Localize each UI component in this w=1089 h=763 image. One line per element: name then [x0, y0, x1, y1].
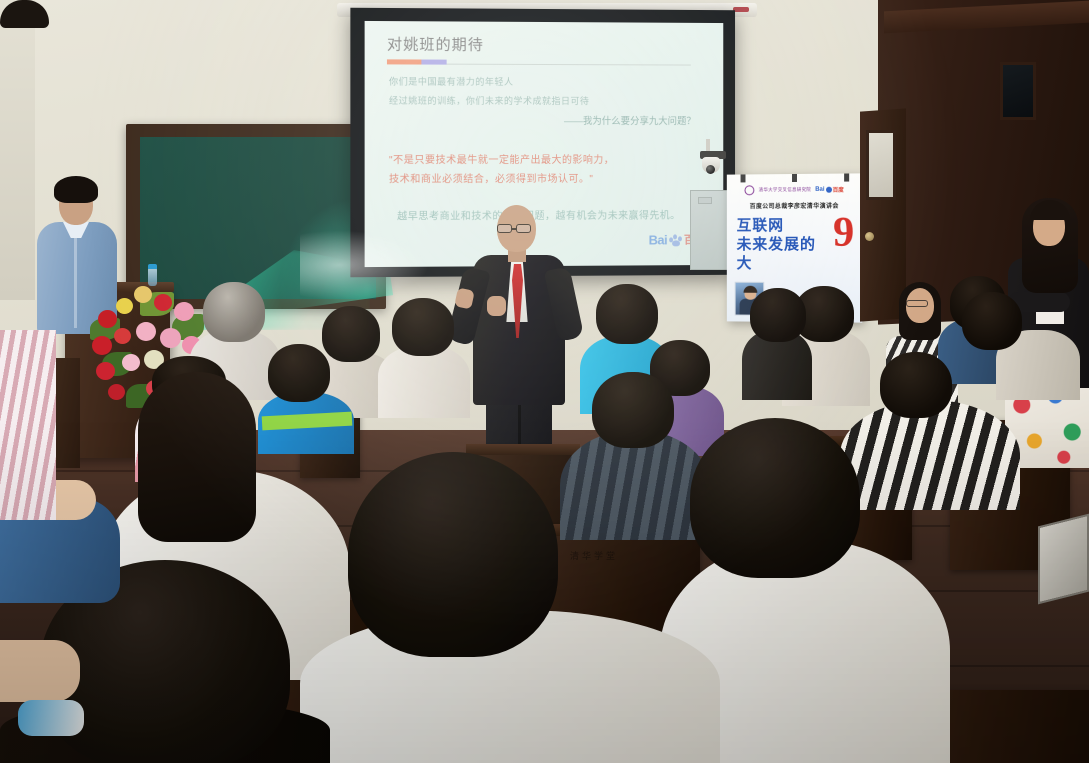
slide-quote-line-1: "不是只要技术最牛就一定能产出最大的影响力， [389, 151, 706, 166]
eyeglasses-icon [906, 300, 928, 307]
speaker-hair [0, 0, 49, 28]
door-side-glass [866, 130, 896, 200]
audience-head [596, 284, 658, 344]
speaker-glasses-bridge [512, 228, 517, 230]
slide-closing-line: 越早思考商业和技术的关系问题，越有机会为未来赢得先机。 [397, 206, 705, 222]
speaker-right-hand [487, 296, 506, 316]
audience-head [880, 352, 952, 418]
baidu-logo-latin: Bai [649, 232, 668, 247]
audience-head [750, 288, 806, 342]
accent-bar-orange [387, 59, 421, 64]
host-shirt-placket [74, 232, 77, 328]
slide-quote-line-2: 技术和商业必须结合，必须得到市场认可。" [389, 170, 706, 186]
audience-head [690, 418, 860, 578]
left-edge-attendee [0, 330, 56, 520]
banner-baidu-latin: Bai [815, 186, 824, 192]
roller-end-cap [733, 7, 749, 12]
banner-baidu-chinese: 百度 [833, 185, 844, 193]
water-bottle-cap [148, 264, 157, 269]
speaker [0, 0, 49, 28]
speaker-glasses-right-lens [516, 224, 531, 233]
slide-divider [387, 59, 690, 65]
audience-head [203, 282, 265, 342]
banner-clip-mid [792, 173, 797, 182]
presentation-slide: 对姚班的期待 你们是中国最有潜力的年轻人 经过姚班的训练，你们未来的学术成就指日… [365, 21, 724, 267]
audience-head [268, 344, 330, 402]
panel-label [698, 197, 712, 204]
door-handle-icon [865, 232, 874, 241]
projection-screen: 对姚班的期待 你们是中国最有潜力的年轻人 经过姚班的训练，你们未来的学术成就指日… [350, 8, 735, 278]
camera-lens [706, 165, 715, 174]
paw-icon [669, 233, 682, 246]
foreground-head-center [348, 452, 558, 657]
laptop-screen [1038, 514, 1089, 605]
banner-logo-row: 清华大学交叉信息研究院 Bai 百度 [727, 183, 862, 195]
long-hair [138, 372, 256, 542]
host-hair [54, 176, 98, 203]
audience-head [392, 298, 454, 356]
audience-head [592, 372, 674, 448]
slide-bullet-2: 经过姚班的训练，你们未来的学术成就指日可待 [389, 94, 706, 108]
banner-clip-right [844, 173, 849, 181]
sneaker [18, 700, 84, 736]
slide-attribution: ——我为什么要分享九大问题？ [383, 113, 696, 127]
audience-shoulders [378, 346, 470, 418]
banner-clip-left [741, 173, 746, 182]
chair-top-rail [466, 444, 580, 455]
banner-big-number: 9 [833, 212, 854, 254]
banner-baidu-logo: Bai 百度 [815, 185, 844, 193]
accent-bar-purple [421, 60, 446, 65]
lecture-hall-photo: 对姚班的期待 你们是中国最有潜力的年轻人 经过姚班的训练，你们未来的学术成就指日… [0, 0, 1089, 763]
slide-title: 对姚班的期待 [387, 33, 706, 56]
speaker-glasses-left-lens [497, 224, 512, 233]
slide-bullet-1: 你们是中国最有潜力的年轻人 [389, 74, 706, 88]
door-glass-pane [1000, 62, 1036, 120]
banner-headline: 互联网 未来发展的 大 9 [727, 216, 862, 279]
banner-headline-line-3: 大 [737, 254, 863, 273]
banner-org-line: 清华大学交叉信息研究院 [759, 186, 811, 192]
attendee-leg [0, 640, 80, 702]
chair-carving-text: 清华学堂 [570, 549, 618, 562]
banner-paw-icon [826, 186, 832, 192]
audience-head [322, 306, 380, 362]
tsinghua-seal-icon [745, 185, 755, 195]
left-wall-panel [0, 0, 35, 300]
audience-head [962, 292, 1022, 350]
